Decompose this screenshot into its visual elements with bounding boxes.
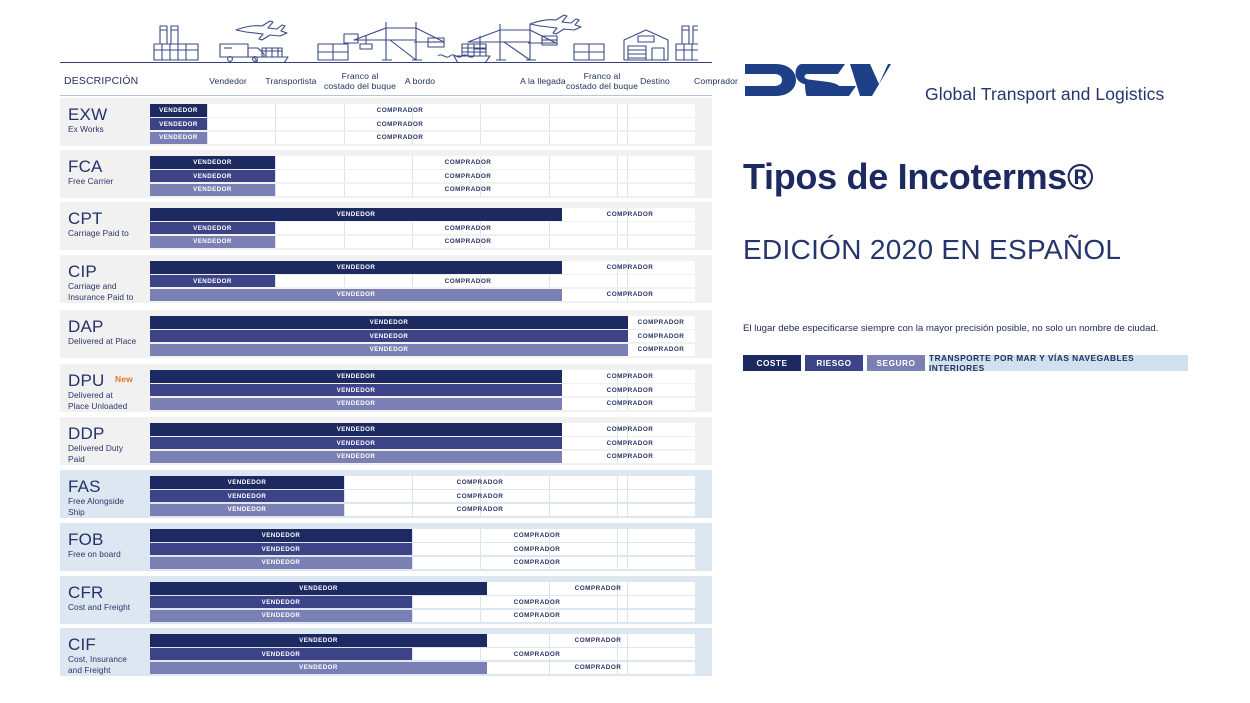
buyer-zone: COMPRADOR — [428, 184, 508, 197]
incoterm-row-dap[interactable]: DAPDelivered at PlaceVENDEDORCOMPRADORVE… — [60, 310, 712, 358]
gridline — [344, 275, 345, 288]
legend-chip-0: COSTE — [743, 355, 801, 371]
gridline — [480, 529, 481, 542]
gridline — [617, 275, 618, 288]
buyer-label: COMPRADOR — [514, 559, 561, 566]
seller-label: VENDEDOR — [337, 453, 376, 460]
band-riesgo[interactable]: VENDEDORCOMPRADOR — [150, 275, 695, 288]
band-coste[interactable]: VENDEDORCOMPRADOR — [150, 582, 695, 595]
gridline — [344, 476, 345, 489]
gridline — [207, 118, 208, 131]
column-header-1: Transportista — [256, 77, 326, 87]
column-header-0: Vendedor — [198, 77, 258, 87]
band-area: VENDEDORCOMPRADORVENDEDORCOMPRADORVENDED… — [150, 423, 695, 464]
incoterm-name-line: Ex Works — [68, 124, 150, 135]
gridline — [275, 236, 276, 249]
incoterm-code: CPT — [68, 209, 150, 228]
header-bottom-divider — [60, 95, 712, 96]
seller-fill: VENDEDOR — [150, 596, 412, 609]
band-riesgo[interactable]: VENDEDORCOMPRADOR — [150, 330, 695, 343]
incoterm-code: CFR — [68, 583, 150, 602]
seller-label: VENDEDOR — [228, 492, 267, 499]
incoterm-code: EXW — [68, 105, 150, 124]
gridline — [627, 132, 628, 145]
gridline — [627, 222, 628, 235]
band-riesgo[interactable]: VENDEDORCOMPRADOR — [150, 222, 695, 235]
incoterm-row-cfr[interactable]: CFRCost and FreightVENDEDORCOMPRADORVEND… — [60, 576, 712, 624]
seller-fill: VENDEDOR — [150, 648, 412, 661]
gridline — [617, 170, 618, 183]
gridline — [412, 184, 413, 197]
band-area: VENDEDORCOMPRADORVENDEDORCOMPRADORVENDED… — [150, 582, 695, 623]
gridline — [627, 596, 628, 609]
buyer-zone: COMPRADOR — [360, 118, 440, 131]
buyer-label: COMPRADOR — [607, 440, 654, 447]
incoterm-row-cip[interactable]: CIPCarriage andInsurance Paid toVENDEDOR… — [60, 255, 712, 303]
buyer-label: COMPRADOR — [514, 546, 561, 553]
buyer-zone: COMPRADOR — [558, 662, 638, 675]
gridline — [275, 104, 276, 117]
seller-label: VENDEDOR — [370, 319, 409, 326]
gridline — [617, 222, 618, 235]
incoterm-row-fas[interactable]: FASFree AlongsideShipVENDEDORCOMPRADORVE… — [60, 470, 712, 518]
seller-fill: VENDEDOR — [150, 156, 275, 169]
incoterm-code: DAP — [68, 317, 150, 336]
incoterm-name-line: Delivered Duty — [68, 443, 150, 454]
incoterm-code: DDP — [68, 424, 150, 443]
seller-fill: VENDEDOR — [150, 476, 344, 489]
gridline — [549, 275, 550, 288]
gridline — [412, 156, 413, 169]
seller-fill: VENDEDOR — [150, 423, 562, 436]
gridline — [275, 132, 276, 145]
gridline — [207, 132, 208, 145]
gridline — [480, 543, 481, 556]
column-header-6: Destino — [630, 77, 680, 87]
gridline — [617, 543, 618, 556]
incoterm-code: CIP — [68, 262, 150, 281]
seller-label: VENDEDOR — [193, 224, 232, 231]
gridline — [412, 222, 413, 235]
header-divider — [60, 62, 712, 63]
band-seguro[interactable]: VENDEDORCOMPRADOR — [150, 557, 695, 570]
legend-chip-label: RIESGO — [816, 358, 851, 368]
buyer-zone: COMPRADOR — [621, 330, 701, 343]
gridline — [344, 236, 345, 249]
incoterm-code: FOB — [68, 530, 150, 549]
buyer-label: COMPRADOR — [445, 159, 492, 166]
buyer-zone: COMPRADOR — [590, 384, 670, 397]
seller-label: VENDEDOR — [159, 107, 198, 114]
buyer-label: COMPRADOR — [575, 585, 622, 592]
gridline — [549, 236, 550, 249]
buyer-zone: COMPRADOR — [590, 423, 670, 436]
buyer-label: COMPRADOR — [514, 651, 561, 658]
seller-label: VENDEDOR — [262, 612, 301, 619]
gridline — [412, 275, 413, 288]
column-header-line: Transportista — [256, 77, 326, 87]
gridline — [412, 529, 413, 542]
gridline — [627, 490, 628, 503]
gridline — [275, 275, 276, 288]
container-icon — [574, 44, 604, 60]
gridline — [549, 132, 550, 145]
band-area: VENDEDORCOMPRADORVENDEDORCOMPRADORVENDED… — [150, 529, 695, 570]
band-coste[interactable]: VENDEDORCOMPRADOR — [150, 634, 695, 647]
incoterm-name-line: Free Alongside — [68, 496, 150, 507]
incoterm-name: Free AlongsideShip — [68, 496, 150, 517]
buyer-label: COMPRADOR — [445, 225, 492, 232]
incoterm-row-cpt[interactable]: CPTCarriage Paid toVENDEDORCOMPRADORVEND… — [60, 202, 712, 250]
column-header-3: A bordo — [393, 77, 447, 87]
gridline — [627, 170, 628, 183]
seller-fill: VENDEDOR — [150, 662, 487, 675]
incoterm-label: EXWEx Works — [68, 105, 150, 135]
buyer-zone: COMPRADOR — [360, 132, 440, 145]
incoterm-label: CFRCost and Freight — [68, 583, 150, 613]
warehouse-icon — [624, 30, 668, 60]
buyer-label: COMPRADOR — [445, 173, 492, 180]
band-riesgo[interactable]: VENDEDORCOMPRADOR — [150, 648, 695, 661]
gridline — [549, 118, 550, 131]
band-riesgo[interactable]: VENDEDORCOMPRADOR — [150, 118, 695, 131]
seller-fill: VENDEDOR — [150, 170, 275, 183]
seller-fill: VENDEDOR — [150, 504, 344, 517]
column-header-line: A bordo — [393, 77, 447, 87]
band-riesgo[interactable]: VENDEDORCOMPRADOR — [150, 384, 695, 397]
logistics-skyline-illustration — [138, 6, 698, 62]
buyer-zone: COMPRADOR — [590, 370, 670, 383]
seller-label: VENDEDOR — [228, 506, 267, 513]
incoterm-name: Free on board — [68, 549, 150, 560]
gridline — [344, 184, 345, 197]
band-coste[interactable]: VENDEDORCOMPRADOR — [150, 208, 695, 221]
buyer-label: COMPRADOR — [445, 278, 492, 285]
gridline — [412, 543, 413, 556]
seller-fill: VENDEDOR — [150, 634, 487, 647]
buyer-label: COMPRADOR — [575, 664, 622, 671]
buyer-zone: COMPRADOR — [428, 275, 508, 288]
band-riesgo[interactable]: VENDEDORCOMPRADOR — [150, 490, 695, 503]
seller-label: VENDEDOR — [299, 664, 338, 671]
buyer-label: COMPRADOR — [514, 599, 561, 606]
gridline — [412, 170, 413, 183]
buyer-label: COMPRADOR — [514, 532, 561, 539]
seller-label: VENDEDOR — [193, 159, 232, 166]
gridline — [617, 596, 618, 609]
gridline — [480, 557, 481, 570]
gridline — [627, 529, 628, 542]
incoterm-row-fca[interactable]: FCAFree CarrierVENDEDORCOMPRADORVENDEDOR… — [60, 150, 712, 198]
incoterm-name-line: Delivered at — [68, 390, 150, 401]
incoterms-infographic: DESCRIPCIÓN VendedorTransportistaFranco … — [0, 0, 1250, 703]
gridline — [480, 132, 481, 145]
seller-fill: VENDEDOR — [150, 610, 412, 623]
brand-panel: Global Transport and Logistics Tipos de … — [740, 0, 1240, 703]
gridline — [549, 504, 550, 517]
gridline — [480, 610, 481, 623]
gridline — [412, 476, 413, 489]
buyer-label: COMPRADOR — [445, 238, 492, 245]
factory-icon — [154, 26, 198, 60]
incoterm-name: Carriage andInsurance Paid to — [68, 281, 150, 302]
gridline — [617, 104, 618, 117]
gridline — [627, 648, 628, 661]
legend-chip-1: RIESGO — [805, 355, 863, 371]
gridline — [275, 118, 276, 131]
seller-fill: VENDEDOR — [150, 132, 207, 145]
band-riesgo[interactable]: VENDEDORCOMPRADOR — [150, 596, 695, 609]
seller-fill: VENDEDOR — [150, 184, 275, 197]
legend-chip-3: TRANSPORTE POR MAR Y VÍAS NAVEGABLES INT… — [929, 355, 1188, 371]
gridline — [344, 504, 345, 517]
seller-fill: VENDEDOR — [150, 316, 628, 329]
gridline — [412, 596, 413, 609]
gridline — [344, 104, 345, 117]
gridline — [412, 610, 413, 623]
buyer-label: COMPRADOR — [457, 479, 504, 486]
gridline — [480, 596, 481, 609]
seller-fill: VENDEDOR — [150, 490, 344, 503]
band-coste[interactable]: VENDEDORCOMPRADOR — [150, 156, 695, 169]
gridline — [412, 648, 413, 661]
incoterm-code: CIF — [68, 635, 150, 654]
buyer-zone: COMPRADOR — [497, 529, 577, 542]
incoterm-row-fob[interactable]: FOBFree on boardVENDEDORCOMPRADORVENDEDO… — [60, 523, 712, 571]
incoterm-row-ddp[interactable]: DDPDelivered DutyPaidVENDEDORCOMPRADORVE… — [60, 417, 712, 465]
seller-fill: VENDEDOR — [150, 384, 562, 397]
buyer-zone: COMPRADOR — [440, 504, 520, 517]
buyer-zone: COMPRADOR — [440, 490, 520, 503]
legend-chip-label: SEGURO — [877, 358, 916, 368]
band-coste[interactable]: VENDEDORCOMPRADOR — [150, 370, 695, 383]
band-area: VENDEDORCOMPRADORVENDEDORCOMPRADORVENDED… — [150, 156, 695, 197]
buyer-label: COMPRADOR — [377, 134, 424, 141]
gridline — [344, 222, 345, 235]
band-seguro[interactable]: VENDEDORCOMPRADOR — [150, 236, 695, 249]
buyer-label: COMPRADOR — [638, 346, 685, 353]
band-area: VENDEDORCOMPRADORVENDEDORCOMPRADORVENDED… — [150, 370, 695, 411]
gridline — [617, 529, 618, 542]
seller-fill: VENDEDOR — [150, 451, 562, 464]
gridline — [627, 557, 628, 570]
band-seguro[interactable]: VENDEDORCOMPRADOR — [150, 662, 695, 675]
buyer-zone: COMPRADOR — [497, 543, 577, 556]
gridline — [627, 476, 628, 489]
band-seguro[interactable]: VENDEDORCOMPRADOR — [150, 344, 695, 357]
ship-icon — [254, 48, 288, 62]
gridline — [549, 184, 550, 197]
column-header-7: Comprador — [684, 77, 748, 87]
legend-chip-label: TRANSPORTE POR MAR Y VÍAS NAVEGABLES INT… — [929, 353, 1188, 373]
container-icon — [318, 44, 348, 60]
buyer-label: COMPRADOR — [607, 264, 654, 271]
band-seguro[interactable]: VENDEDORCOMPRADOR — [150, 184, 695, 197]
seller-fill: VENDEDOR — [150, 261, 562, 274]
seller-label: VENDEDOR — [262, 650, 301, 657]
seller-label: VENDEDOR — [193, 186, 232, 193]
incoterm-label: FASFree AlongsideShip — [68, 477, 150, 517]
band-seguro[interactable]: VENDEDORCOMPRADOR — [150, 289, 695, 302]
buyer-zone: COMPRADOR — [428, 156, 508, 169]
seller-label: VENDEDOR — [193, 172, 232, 179]
seller-label: VENDEDOR — [262, 598, 301, 605]
column-header-line: Destino — [630, 77, 680, 87]
incoterm-label: CIPCarriage andInsurance Paid to — [68, 262, 150, 302]
buyer-label: COMPRADOR — [607, 291, 654, 298]
buyer-label: COMPRADOR — [607, 400, 654, 407]
band-seguro[interactable]: VENDEDORCOMPRADOR — [150, 610, 695, 623]
seller-label: VENDEDOR — [193, 277, 232, 284]
incoterm-row-dpu[interactable]: DPUNewDelivered atPlace UnloadedVENDEDOR… — [60, 364, 712, 412]
seller-fill: VENDEDOR — [150, 557, 412, 570]
incoterms-chart-panel: DESCRIPCIÓN VendedorTransportistaFranco … — [60, 0, 712, 690]
factory-icon — [676, 26, 698, 60]
incoterm-name-line: Paid — [68, 454, 150, 465]
buyer-label: COMPRADOR — [607, 453, 654, 460]
gridline — [480, 648, 481, 661]
buyer-zone: COMPRADOR — [428, 222, 508, 235]
band-coste[interactable]: VENDEDORCOMPRADOR — [150, 476, 695, 489]
seller-fill: VENDEDOR — [150, 529, 412, 542]
gridline — [275, 170, 276, 183]
seller-fill: VENDEDOR — [150, 582, 487, 595]
gridline — [275, 184, 276, 197]
buyer-zone: COMPRADOR — [590, 261, 670, 274]
seller-fill: VENDEDOR — [150, 437, 562, 450]
incoterm-label: DDPDelivered DutyPaid — [68, 424, 150, 464]
seller-fill: VENDEDOR — [150, 289, 562, 302]
incoterm-row-cif[interactable]: CIFCost, Insuranceand FreightVENDEDORCOM… — [60, 628, 712, 676]
seller-label: VENDEDOR — [337, 264, 376, 271]
new-badge: New — [115, 374, 133, 384]
column-header-line: costado del buque — [321, 82, 399, 92]
buyer-zone: COMPRADOR — [558, 582, 638, 595]
seller-label: VENDEDOR — [337, 373, 376, 380]
gridline — [627, 610, 628, 623]
truck-icon — [220, 44, 264, 61]
buyer-label: COMPRADOR — [607, 373, 654, 380]
band-area: VENDEDORCOMPRADORVENDEDORCOMPRADORVENDED… — [150, 104, 695, 145]
page-subtitle: EDICIÓN 2020 EN ESPAÑOL — [743, 234, 1121, 266]
buyer-label: COMPRADOR — [607, 387, 654, 394]
seller-label: VENDEDOR — [337, 211, 376, 218]
incoterm-row-exw[interactable]: EXWEx WorksVENDEDORCOMPRADORVENDEDORCOMP… — [60, 98, 712, 146]
seller-fill: VENDEDOR — [150, 236, 275, 249]
band-coste[interactable]: VENDEDORCOMPRADOR — [150, 261, 695, 274]
incoterm-name-line: Carriage and — [68, 281, 150, 292]
gridline — [207, 104, 208, 117]
incoterm-name: Free Carrier — [68, 176, 150, 187]
gridline — [627, 543, 628, 556]
gridline — [617, 236, 618, 249]
seller-label: VENDEDOR — [370, 346, 409, 353]
seller-label: VENDEDOR — [193, 238, 232, 245]
incoterm-name-line: Ship — [68, 507, 150, 518]
seller-label: VENDEDOR — [299, 585, 338, 592]
buyer-zone: COMPRADOR — [621, 316, 701, 329]
incoterm-label: CPTCarriage Paid to — [68, 209, 150, 239]
incoterm-label: CIFCost, Insuranceand Freight — [68, 635, 150, 675]
incoterm-name-line: Cost, Insurance — [68, 654, 150, 665]
airplane-icon — [236, 21, 287, 40]
seller-fill: VENDEDOR — [150, 104, 207, 117]
band-area: VENDEDORCOMPRADORVENDEDORCOMPRADORVENDED… — [150, 261, 695, 302]
buyer-zone: COMPRADOR — [590, 289, 670, 302]
gridline — [617, 557, 618, 570]
gridline — [617, 132, 618, 145]
band-seguro[interactable]: VENDEDORCOMPRADOR — [150, 132, 695, 145]
buyer-label: COMPRADOR — [457, 493, 504, 500]
incoterm-code: FCA — [68, 157, 150, 176]
buyer-label: COMPRADOR — [457, 506, 504, 513]
seller-fill: VENDEDOR — [150, 330, 628, 343]
band-coste[interactable]: VENDEDORCOMPRADOR — [150, 529, 695, 542]
dsv-logo — [743, 57, 893, 103]
buyer-zone: COMPRADOR — [497, 596, 577, 609]
band-area: VENDEDORCOMPRADORVENDEDORCOMPRADORVENDED… — [150, 316, 695, 357]
buyer-label: COMPRADOR — [377, 121, 424, 128]
gridline — [275, 156, 276, 169]
band-coste[interactable]: VENDEDORCOMPRADOR — [150, 104, 695, 117]
gridline — [617, 156, 618, 169]
incoterm-label: DAPDelivered at Place — [68, 317, 150, 347]
column-header-line: Comprador — [684, 77, 748, 87]
band-area: VENDEDORCOMPRADORVENDEDORCOMPRADORVENDED… — [150, 634, 695, 675]
seller-fill: VENDEDOR — [150, 208, 562, 221]
band-seguro[interactable]: VENDEDORCOMPRADOR — [150, 451, 695, 464]
gridline — [344, 132, 345, 145]
seller-label: VENDEDOR — [337, 400, 376, 407]
band-seguro[interactable]: VENDEDORCOMPRADOR — [150, 398, 695, 411]
seller-label: VENDEDOR — [299, 637, 338, 644]
incoterm-name-line: Place Unloaded — [68, 401, 150, 412]
incoterm-code: FAS — [68, 477, 150, 496]
gridline — [344, 490, 345, 503]
incoterm-name: Delivered at Place — [68, 336, 150, 347]
seller-label: VENDEDOR — [262, 532, 301, 539]
band-riesgo[interactable]: VENDEDORCOMPRADOR — [150, 543, 695, 556]
buyer-zone: COMPRADOR — [428, 236, 508, 249]
band-area: VENDEDORCOMPRADORVENDEDORCOMPRADORVENDED… — [150, 208, 695, 249]
band-riesgo[interactable]: VENDEDORCOMPRADOR — [150, 437, 695, 450]
seller-label: VENDEDOR — [337, 386, 376, 393]
band-coste[interactable]: VENDEDORCOMPRADOR — [150, 316, 695, 329]
seller-fill: VENDEDOR — [150, 398, 562, 411]
band-seguro[interactable]: VENDEDORCOMPRADOR — [150, 504, 695, 517]
seller-label: VENDEDOR — [228, 479, 267, 486]
crane-icon — [344, 22, 444, 60]
band-riesgo[interactable]: VENDEDORCOMPRADOR — [150, 170, 695, 183]
seller-label: VENDEDOR — [337, 439, 376, 446]
buyer-zone: COMPRADOR — [558, 634, 638, 647]
gridline — [549, 156, 550, 169]
seller-fill: VENDEDOR — [150, 275, 275, 288]
gridline — [617, 610, 618, 623]
incoterm-name: Delivered DutyPaid — [68, 443, 150, 464]
legend-chip-label: COSTE — [756, 358, 787, 368]
gridline — [412, 236, 413, 249]
seller-label: VENDEDOR — [337, 291, 376, 298]
gridline — [275, 222, 276, 235]
band-coste[interactable]: VENDEDORCOMPRADOR — [150, 423, 695, 436]
band-area: VENDEDORCOMPRADORVENDEDORCOMPRADORVENDED… — [150, 476, 695, 517]
gridline — [412, 557, 413, 570]
incoterm-name: Carriage Paid to — [68, 228, 150, 239]
seller-label: VENDEDOR — [337, 426, 376, 433]
gridline — [412, 504, 413, 517]
buyer-zone: COMPRADOR — [621, 344, 701, 357]
